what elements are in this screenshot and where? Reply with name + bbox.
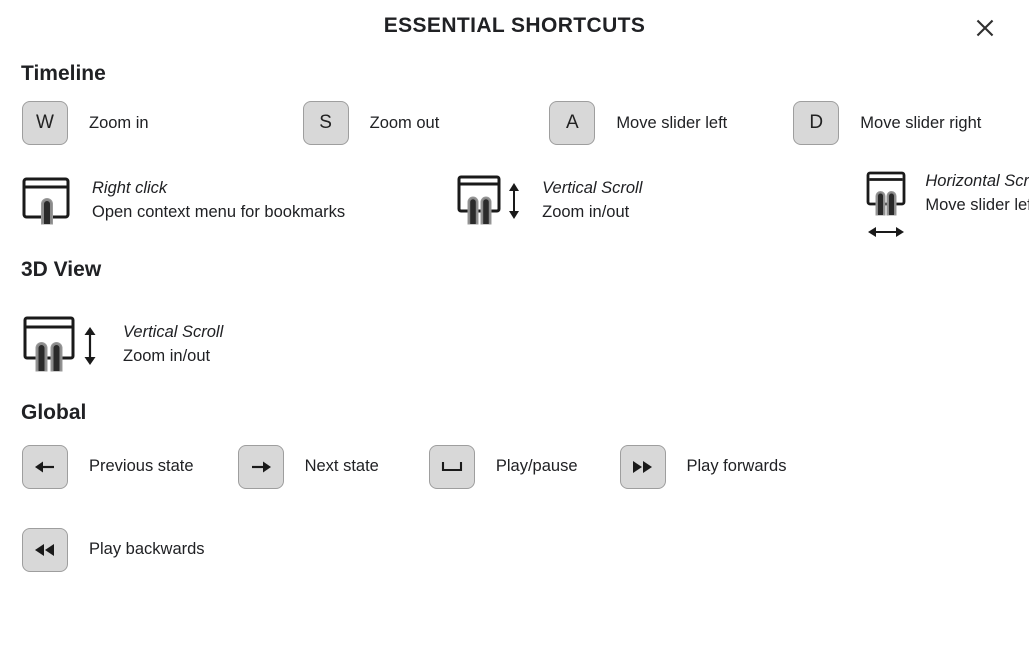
spacebar-icon <box>440 459 464 475</box>
keycap-play-forwards[interactable] <box>620 445 666 489</box>
shortcut-label: Zoom in <box>89 114 149 133</box>
global-shortcuts-row-1: Previous state Next state <box>20 425 1009 508</box>
shortcut-effect: Zoom in/out <box>123 345 223 369</box>
keycap-label: W <box>36 112 54 134</box>
dialog-header: ESSENTIAL SHORTCUTS <box>20 0 1009 56</box>
keycap-w[interactable]: W <box>22 101 68 145</box>
shortcut-description: Vertical Scroll Zoom in/out <box>123 321 223 369</box>
shortcut-label: Move slider left <box>616 114 727 133</box>
trackpad-vertical-scroll-icon <box>22 313 78 378</box>
trackpad-right-click-icon <box>20 172 74 231</box>
shortcut-item: Play backwards <box>22 528 205 572</box>
shortcut-effect: Open context menu for bookmarks <box>92 201 345 225</box>
double-arrow-vertical-icon <box>504 181 524 226</box>
keycap-s[interactable]: S <box>303 101 349 145</box>
shortcut-label: Play forwards <box>687 457 787 476</box>
shortcut-label: Move slider right <box>860 114 981 133</box>
shortcut-description: Right click Open context menu for bookma… <box>92 177 345 225</box>
shortcut-description: Vertical Scroll Zoom in/out <box>542 177 642 225</box>
rewind-icon <box>32 542 58 558</box>
keycap-a[interactable]: A <box>549 101 595 145</box>
shortcut-item: Horizontal Scroll Move slider left/right <box>865 157 1029 246</box>
section-title-3dview: 3D View <box>21 258 1009 282</box>
dialog-title: ESSENTIAL SHORTCUTS <box>20 14 1009 38</box>
arrow-left-icon <box>33 457 57 477</box>
shortcut-label: Zoom out <box>370 114 440 133</box>
double-arrow-vertical-icon <box>79 325 101 372</box>
shortcut-item: D Move slider right <box>793 101 981 145</box>
shortcut-effect: Zoom in/out <box>542 201 642 225</box>
shortcut-label: Next state <box>305 457 379 476</box>
shortcut-item: Next state <box>238 445 379 489</box>
keycap-label: S <box>319 112 332 134</box>
double-arrow-horizontal-icon <box>866 223 906 246</box>
shortcut-item: Previous state <box>22 445 194 489</box>
shortcut-item: Vertical Scroll Zoom in/out <box>22 313 223 378</box>
shortcut-label: Play/pause <box>496 457 578 476</box>
keycap-d[interactable]: D <box>793 101 839 145</box>
shortcut-label: Play backwards <box>89 540 205 559</box>
timeline-key-shortcuts-row: W Zoom in S Zoom out A Move slider left … <box>20 86 1009 160</box>
fast-forward-icon <box>630 459 656 475</box>
section-title-timeline: Timeline <box>21 62 1009 86</box>
close-button[interactable] <box>969 12 1001 44</box>
shortcut-description: Horizontal Scroll Move slider left/right <box>925 170 1029 218</box>
shortcut-action: Vertical Scroll <box>542 177 642 201</box>
global-shortcuts-row-2: Play backwards <box>20 508 1009 591</box>
shortcut-action: Horizontal Scroll <box>925 170 1029 194</box>
3dview-pointer-shortcuts-row: Vertical Scroll Zoom in/out <box>20 304 1009 386</box>
arrow-right-icon <box>249 457 273 477</box>
keycap-play-backwards[interactable] <box>22 528 68 572</box>
shortcut-effect: Move slider left/right <box>925 194 1029 218</box>
timeline-pointer-shortcuts-row: Right click Open context menu for bookma… <box>20 160 1009 242</box>
shortcut-item: Right click Open context menu for bookma… <box>20 172 345 231</box>
shortcut-action: Right click <box>92 177 345 201</box>
close-icon <box>975 18 995 38</box>
essential-shortcuts-dialog: ESSENTIAL SHORTCUTS Timeline W Zoom in S… <box>0 0 1029 665</box>
shortcut-label: Previous state <box>89 457 194 476</box>
keycap-spacebar[interactable] <box>429 445 475 489</box>
shortcut-item: Play forwards <box>620 445 787 489</box>
keycap-label: D <box>809 112 823 134</box>
keycap-next-state[interactable] <box>238 445 284 489</box>
shortcut-item: S Zoom out <box>303 101 440 145</box>
shortcut-item: Vertical Scroll Zoom in/out <box>456 172 642 231</box>
shortcut-action: Vertical Scroll <box>123 321 223 345</box>
trackpad-horizontal-scroll-icon <box>865 169 907 222</box>
section-title-global: Global <box>21 401 1009 425</box>
shortcut-item: A Move slider left <box>549 101 727 145</box>
shortcut-item: Play/pause <box>429 445 578 489</box>
keycap-label: A <box>566 112 579 134</box>
trackpad-vertical-scroll-icon <box>456 172 502 231</box>
keycap-previous-state[interactable] <box>22 445 68 489</box>
shortcut-item: W Zoom in <box>22 101 149 145</box>
